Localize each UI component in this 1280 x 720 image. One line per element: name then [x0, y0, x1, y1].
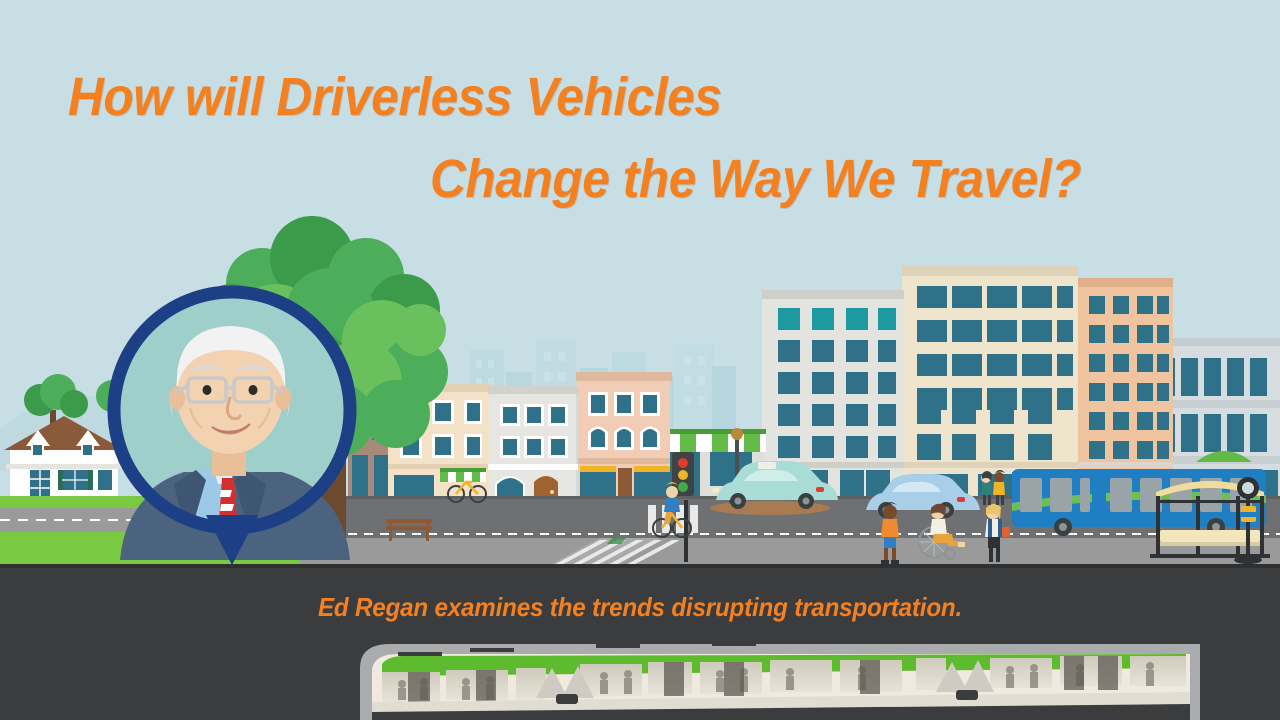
light-rail-train	[360, 636, 1200, 720]
poster-root: How will Driverless Vehicles Change the …	[0, 0, 1280, 720]
subtitle-text: Ed Regan examines the trends disrupting …	[45, 592, 1235, 623]
speaker-portrait	[114, 292, 350, 566]
